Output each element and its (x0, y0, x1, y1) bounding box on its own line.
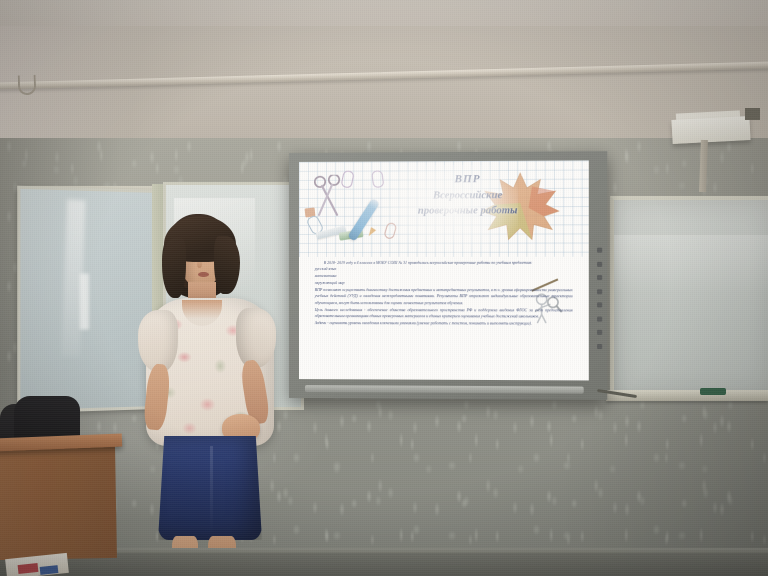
sleeve-left (138, 310, 178, 372)
hair-side-left (162, 238, 186, 298)
hair-side-right (214, 236, 240, 294)
slide-title-line1: ВПР (402, 172, 533, 189)
sleeve-right (236, 308, 276, 368)
presentation-slide: ВПР Всероссийские проверочные работы В 2… (299, 160, 589, 380)
classroom-photo: ВПР Всероссийские проверочные работы В 2… (0, 0, 768, 576)
slide-paragraph-tasks: Задачи - оценивать уровень овладения клю… (315, 320, 573, 327)
iwb-button[interactable] (597, 248, 602, 253)
iwb-pen-tray[interactable] (305, 385, 584, 394)
slide-paragraph: русский язык (315, 266, 573, 273)
iwb-button[interactable] (597, 344, 602, 349)
slide-title-line3: проверочные работы (402, 203, 533, 219)
iwb-button[interactable] (597, 316, 602, 321)
board-glare (614, 235, 768, 294)
pipe-hook (18, 75, 37, 96)
marker-icon[interactable] (700, 388, 726, 395)
bracket-junction-box (745, 108, 760, 120)
slide-title-line2: Всероссийские (402, 188, 533, 204)
iwb-button[interactable] (597, 289, 602, 294)
board-glare-highlight (80, 273, 89, 330)
wooden-teacher-desk[interactable] (0, 446, 117, 560)
wall-mounted-projector-bracket (671, 116, 750, 144)
skirt-fold (210, 446, 213, 534)
iwb-button[interactable] (597, 275, 602, 280)
slide-paragraph: ВПР позволяют осуществить диагностику до… (315, 287, 573, 308)
iwb-button[interactable] (597, 261, 602, 266)
mouth (198, 272, 209, 277)
iwb-button[interactable] (597, 330, 602, 335)
projection-screen[interactable]: ВПР Всероссийские проверочные работы В 2… (299, 160, 589, 380)
presenting-teacher (126, 214, 286, 576)
iwb-side-buttons[interactable] (597, 248, 604, 350)
slide-title: ВПР Всероссийские проверочные работы (402, 172, 533, 219)
slide-body-text: В 2018- 2019 году в 4 классах в МОБУ СОШ… (315, 259, 573, 327)
interactive-whiteboard[interactable]: ВПР Всероссийские проверочные работы В 2… (289, 151, 607, 400)
iwb-button[interactable] (597, 303, 602, 308)
ceiling-strip (0, 0, 768, 26)
slide-paragraph-goal: Цель данного исследования - обеспечение … (315, 307, 573, 321)
whiteboard-right-panel[interactable] (610, 196, 768, 396)
